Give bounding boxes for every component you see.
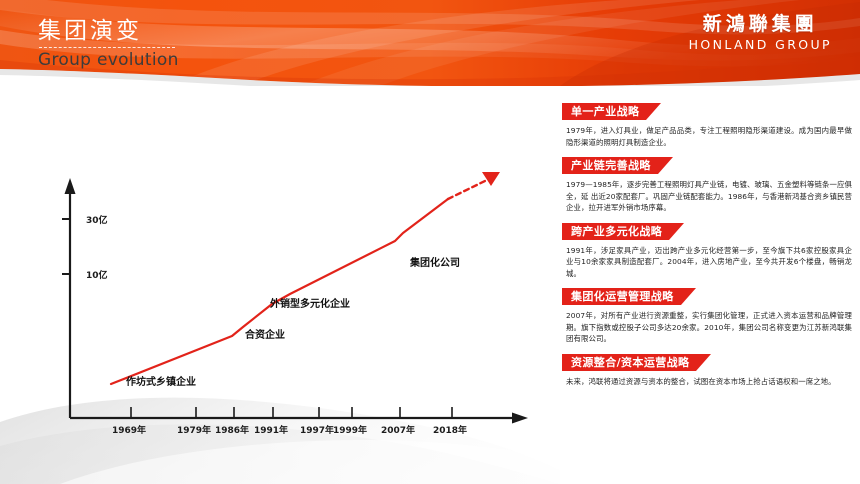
x-axis-label-1969: 1969年 xyxy=(112,423,146,436)
x-axis-label-2018: 2018年 xyxy=(433,423,467,436)
y-axis-label-30: 30亿 xyxy=(86,213,108,226)
x-axis-label-1997: 1997年 xyxy=(300,423,334,436)
page-title-cn: 集团演变 xyxy=(38,18,179,45)
stage-label-export-diversified: 外销型多元化企业 xyxy=(270,295,350,310)
chart-series-line xyxy=(111,199,448,384)
strategy-body-3: 1991年，涉足家具产业，迈出跨产业多元化经营第一步，至今旗下共6家控股家具企业… xyxy=(566,245,852,280)
x-axis-label-1991: 1991年 xyxy=(254,423,288,436)
strategy-block-2: 产业链完善战略 1979—1985年，逐步完善工程照明灯具产业链，电镀、玻璃、五… xyxy=(556,154,860,214)
slide-header: 集团演变 Group evolution 新鴻聯集團 HONLAND GROUP xyxy=(0,0,860,86)
logo-name-en: HONLAND GROUP xyxy=(689,37,832,52)
y-axis-label-10: 10亿 xyxy=(86,268,108,281)
x-axis-label-1986: 1986年 xyxy=(215,423,249,436)
strategy-block-3: 跨产业多元化战略 1991年，涉足家具产业，迈出跨产业多元化经营第一步，至今旗下… xyxy=(556,220,860,280)
strategy-body-1: 1979年，进入灯具业，做足产品品类，专注工程照明隐形渠道建设。成为国内最早做隐… xyxy=(566,125,852,148)
strategy-block-1: 单一产业战略 1979年，进入灯具业，做足产品品类，专注工程照明隐形渠道建设。成… xyxy=(556,100,860,148)
strategy-body-2: 1979—1985年，逐步完善工程照明灯具产业链，电镀、玻璃、五金塑料等链条一应… xyxy=(566,179,852,214)
strategy-heading-3: 跨产业多元化战略 xyxy=(562,223,669,240)
header-title-group: 集团演变 Group evolution xyxy=(38,18,179,71)
stage-label-group-company: 集团化公司 xyxy=(410,254,460,269)
strategy-panel: 单一产业战略 1979年，进入灯具业，做足产品品类，专注工程照明隐形渠道建设。成… xyxy=(556,100,860,472)
stage-label-workshop: 作坊式乡镇企业 xyxy=(126,373,196,388)
page-title-en: Group evolution xyxy=(38,50,179,71)
logo-name-cn: 新鴻聯集團 xyxy=(689,13,832,35)
evolution-line-chart: 30亿 10亿 1969年 1979年 1986年 1991年 1997年 19… xyxy=(0,86,556,484)
stage-label-joint-venture: 合资企业 xyxy=(245,326,285,341)
strategy-heading-4: 集团化运营管理战略 xyxy=(562,288,681,305)
x-axis-label-2007: 2007年 xyxy=(381,423,415,436)
strategy-heading-1: 单一产业战略 xyxy=(562,103,646,120)
strategy-block-5: 资源整合/资本运营战略 未来，鸿联将通过资源与资本的整合，试图在资本市场上抢占话… xyxy=(556,351,860,388)
slide-root: 集团演变 Group evolution 新鴻聯集團 HONLAND GROUP xyxy=(0,0,860,484)
strategy-block-4: 集团化运营管理战略 2007年，对所有产业进行资源重整，实行集团化管理，正式进入… xyxy=(556,285,860,345)
y-axis-arrowhead xyxy=(65,178,76,194)
chart-series-arrowhead xyxy=(482,172,500,186)
strategy-heading-2: 产业链完善战略 xyxy=(562,157,658,174)
company-logo: 新鴻聯集團 HONLAND GROUP xyxy=(689,13,832,52)
strategy-body-5: 未来，鸿联将通过资源与资本的整合，试图在资本市场上抢占话语权和一席之地。 xyxy=(566,376,852,388)
x-axis-label-1999: 1999年 xyxy=(333,423,367,436)
chart-series-line-dashed xyxy=(448,180,487,199)
strategy-heading-5: 资源整合/资本运营战略 xyxy=(562,354,696,371)
title-divider xyxy=(39,47,175,48)
strategy-body-4: 2007年，对所有产业进行资源重整，实行集团化管理，正式进入资本运营和品牌管理期… xyxy=(566,310,852,345)
x-axis-label-1979: 1979年 xyxy=(177,423,211,436)
x-axis-arrowhead xyxy=(512,413,528,424)
